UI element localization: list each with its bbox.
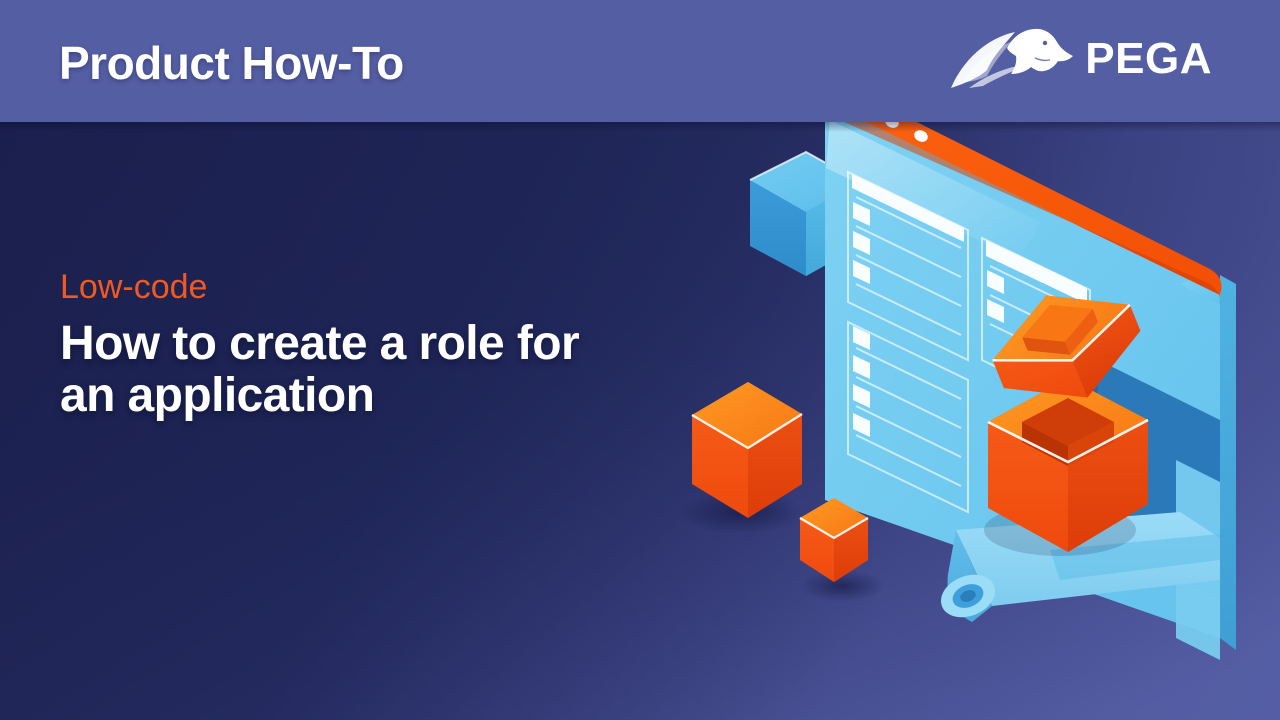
header-title: Product How-To: [59, 40, 404, 86]
slide-canvas: Low-code How to create a role for an app…: [0, 0, 1280, 720]
title-block: Low-code How to create a role for an app…: [60, 270, 720, 421]
page-title: How to create a role for an application: [60, 318, 720, 422]
pega-horse-logo-icon: [949, 26, 1077, 92]
header-bar: Product How-To PEGA: [0, 0, 1280, 122]
browser-window-depth: [1220, 275, 1236, 650]
header-drop-shadow: [0, 122, 1280, 132]
brand-lockup: PEGA: [949, 26, 1212, 92]
category-label: Low-code: [60, 270, 720, 306]
brand-wordmark: PEGA: [1085, 37, 1212, 81]
